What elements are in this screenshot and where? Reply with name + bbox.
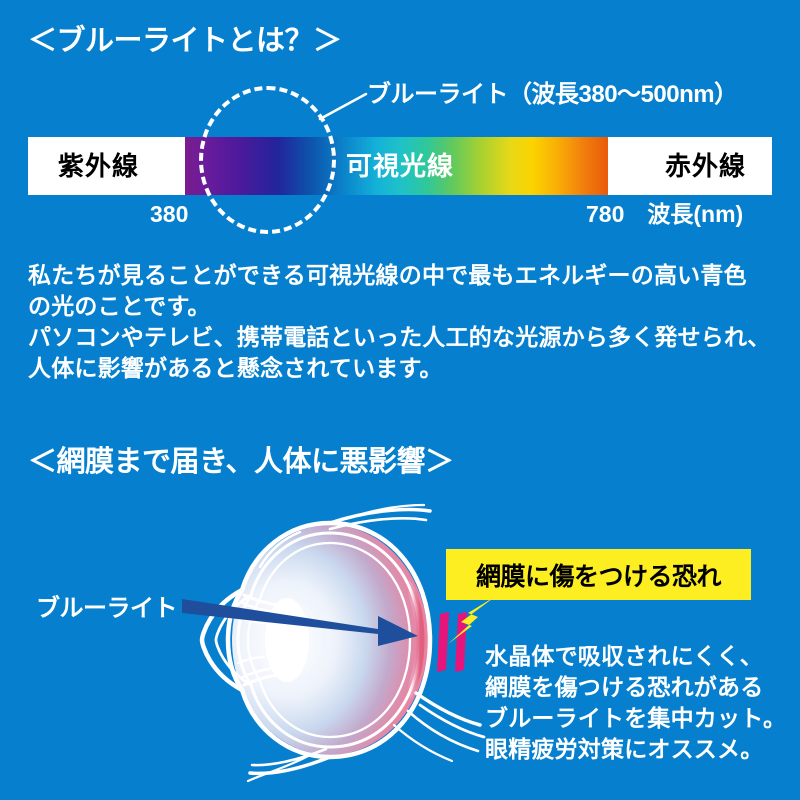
blue-light-range-callout: ブルーライト（波長380〜500nm） xyxy=(367,83,738,107)
infographic-canvas: ＜ブルーライトとは？＞ 紫外線 可視光線 赤外線 ブルーライト（波長380〜50… xyxy=(0,0,800,800)
spectrum-label-visible: 可視光線 xyxy=(346,137,454,195)
spectrum-label-infrared: 赤外線 xyxy=(665,137,746,195)
feature-paragraph-line-4: 眼精疲労対策にオススメ。 xyxy=(485,734,786,765)
spectrum-label-ultraviolet: 紫外線 xyxy=(58,137,139,195)
blue-light-arrow-icon xyxy=(182,596,422,646)
page-title-retina-damage: ＜網膜まで届き、人体に悪影響＞ xyxy=(28,448,453,477)
feature-paragraph: 水晶体で吸収されにくく、 網膜を傷つける恐れがある ブルーライトを集中カット。 … xyxy=(485,641,786,765)
spectrum-panel: 紫外線 可視光線 赤外線 xyxy=(28,137,772,195)
intro-paragraph-line-2: の光のことです。 xyxy=(28,291,773,322)
intro-paragraph-line-3: パソコンやテレビ、携帯電話といった人工的な光源から多く発せられ、 xyxy=(28,322,773,353)
intro-paragraph: 私たちが見ることができる可視光線の中で最もエネルギーの高い青色 の光のことです。… xyxy=(28,260,773,384)
spectrum-tick-380: 380 xyxy=(150,203,188,226)
blue-light-arrow-label: ブルーライト xyxy=(36,588,177,623)
feature-paragraph-line-3: ブルーライトを集中カット。 xyxy=(485,703,786,734)
retina-warning-badge: 網膜に傷をつける恐れ xyxy=(446,549,751,600)
page-title-blue-light: ＜ブルーライトとは？＞ xyxy=(28,27,342,56)
spectrum-tick-780: 780 波長(nm) xyxy=(586,203,743,226)
blue-light-range-highlight-ellipse xyxy=(199,86,336,234)
intro-paragraph-line-1: 私たちが見ることができる可視光線の中で最もエネルギーの高い青色 xyxy=(28,260,773,291)
retina-warning-badge-label: 網膜に傷をつける恐れ xyxy=(476,557,721,593)
intro-paragraph-line-4: 人体に影響があると懸念されています。 xyxy=(28,353,773,384)
feature-paragraph-line-2: 網膜を傷つける恐れがある xyxy=(485,672,786,703)
callout-leader-line xyxy=(318,92,368,120)
feature-paragraph-line-1: 水晶体で吸収されにくく、 xyxy=(485,641,786,672)
